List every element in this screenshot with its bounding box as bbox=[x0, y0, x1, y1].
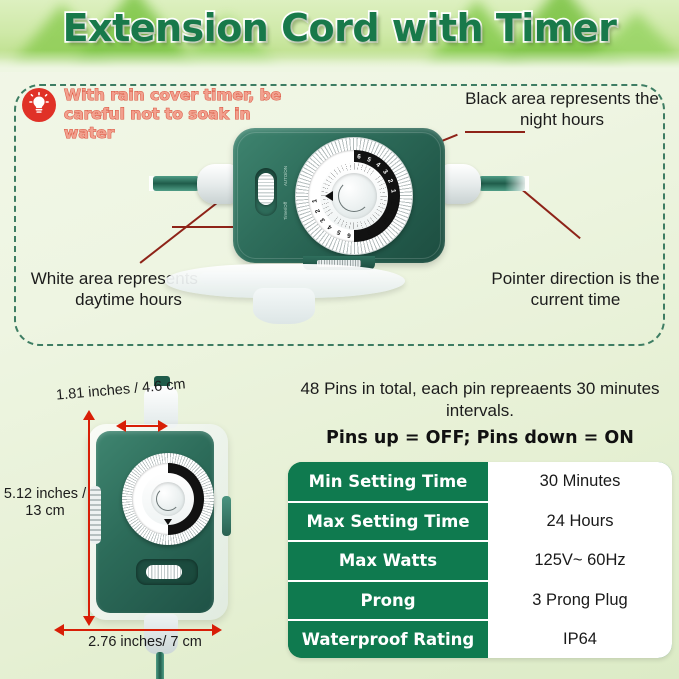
spec-value: 24 Hours bbox=[488, 503, 672, 540]
dimension-arrow-width bbox=[126, 425, 160, 427]
page-title: Extension Cord with Timer bbox=[0, 6, 679, 50]
spec-value: 125V~ 60Hz bbox=[488, 542, 672, 579]
cover-hinge bbox=[90, 486, 101, 544]
dial-pointer bbox=[325, 191, 333, 201]
switch-knob[interactable] bbox=[258, 173, 274, 205]
timer-dial-side[interactable] bbox=[122, 453, 214, 545]
arrow-head-right bbox=[158, 420, 168, 432]
pins-note: 48 Pins in total, each pin repreaents 30… bbox=[288, 378, 672, 422]
switch-knob[interactable] bbox=[146, 565, 182, 579]
callout-night-hours: Black area represents the night hours bbox=[462, 88, 662, 130]
cord-fade bbox=[505, 176, 529, 191]
spec-key: Max Watts bbox=[288, 542, 488, 579]
timer-device-front-view: AUTO/ON Timer/Off 1211109876543211211109… bbox=[233, 128, 445, 268]
dial-hub[interactable] bbox=[331, 173, 377, 219]
outlet-plug-body bbox=[253, 288, 315, 324]
cover-latch bbox=[222, 496, 231, 536]
dial-hour-night: 7 bbox=[347, 154, 351, 161]
arrow-head-up bbox=[83, 410, 95, 420]
dimension-arrow-height bbox=[88, 420, 90, 620]
spec-value: 3 Prong Plug bbox=[488, 582, 672, 619]
cable-gland-left bbox=[197, 164, 237, 204]
timer-device-side-view bbox=[88, 424, 228, 620]
dial-hour-night: 6 bbox=[357, 154, 361, 161]
spec-key: Prong bbox=[288, 582, 488, 619]
dimension-height-label: 5.12 inches / 13 cm bbox=[2, 486, 88, 520]
arrow-head-down bbox=[83, 616, 95, 626]
switch-label-auto: AUTO/ON bbox=[283, 166, 288, 186]
table-row: Waterproof RatingIP64 bbox=[288, 619, 672, 658]
lightbulb-icon bbox=[22, 88, 56, 122]
mode-switch-side[interactable] bbox=[136, 559, 198, 585]
spec-value: 30 Minutes bbox=[488, 462, 672, 501]
arrow-head-left bbox=[54, 624, 64, 636]
mode-switch[interactable] bbox=[255, 168, 277, 216]
switch-label-timer: Timer/Off bbox=[283, 202, 288, 220]
dial-hub[interactable] bbox=[151, 482, 185, 516]
leader-line-night-2 bbox=[465, 131, 525, 133]
pins-rule: Pins up = OFF; Pins down = ON bbox=[288, 428, 672, 448]
dial-hour-night: 12 bbox=[311, 187, 319, 195]
device-housing-side bbox=[96, 431, 214, 613]
dimension-arrow-bottom bbox=[64, 629, 214, 631]
dial-hour-day: 6 bbox=[347, 231, 351, 238]
timer-dial[interactable]: 121110987654321121110987654321 bbox=[295, 137, 413, 255]
cable-gland-right bbox=[441, 164, 481, 204]
table-row: Min Setting Time30 Minutes bbox=[288, 462, 672, 501]
arrow-head-left bbox=[116, 420, 126, 432]
dial-hour-day: 12 bbox=[389, 197, 397, 205]
spec-key: Max Setting Time bbox=[288, 503, 488, 540]
callout-pointer-time: Pointer direction is the current time bbox=[478, 268, 673, 310]
banner-fade bbox=[0, 50, 679, 72]
dial-hour-night: 1 bbox=[389, 188, 396, 193]
plug-cord bbox=[156, 652, 164, 679]
table-row: Prong3 Prong Plug bbox=[288, 580, 672, 619]
dimension-bottom-label: 2.76 inches/ 7 cm bbox=[20, 634, 270, 651]
infographic-page: Extension Cord with Timer With rain cove… bbox=[0, 0, 679, 679]
power-cord-left bbox=[153, 176, 199, 191]
spec-table: Min Setting Time30 MinutesMax Setting Ti… bbox=[288, 462, 672, 658]
spec-value: IP64 bbox=[488, 621, 672, 658]
dial-pointer bbox=[164, 519, 172, 525]
table-row: Max Watts125V~ 60Hz bbox=[288, 540, 672, 579]
table-row: Max Setting Time24 Hours bbox=[288, 501, 672, 540]
spec-key: Min Setting Time bbox=[288, 462, 488, 501]
spec-key: Waterproof Rating bbox=[288, 621, 488, 658]
arrow-head-right bbox=[212, 624, 222, 636]
device-housing: AUTO/ON Timer/Off 1211109876543211211109… bbox=[233, 128, 445, 263]
